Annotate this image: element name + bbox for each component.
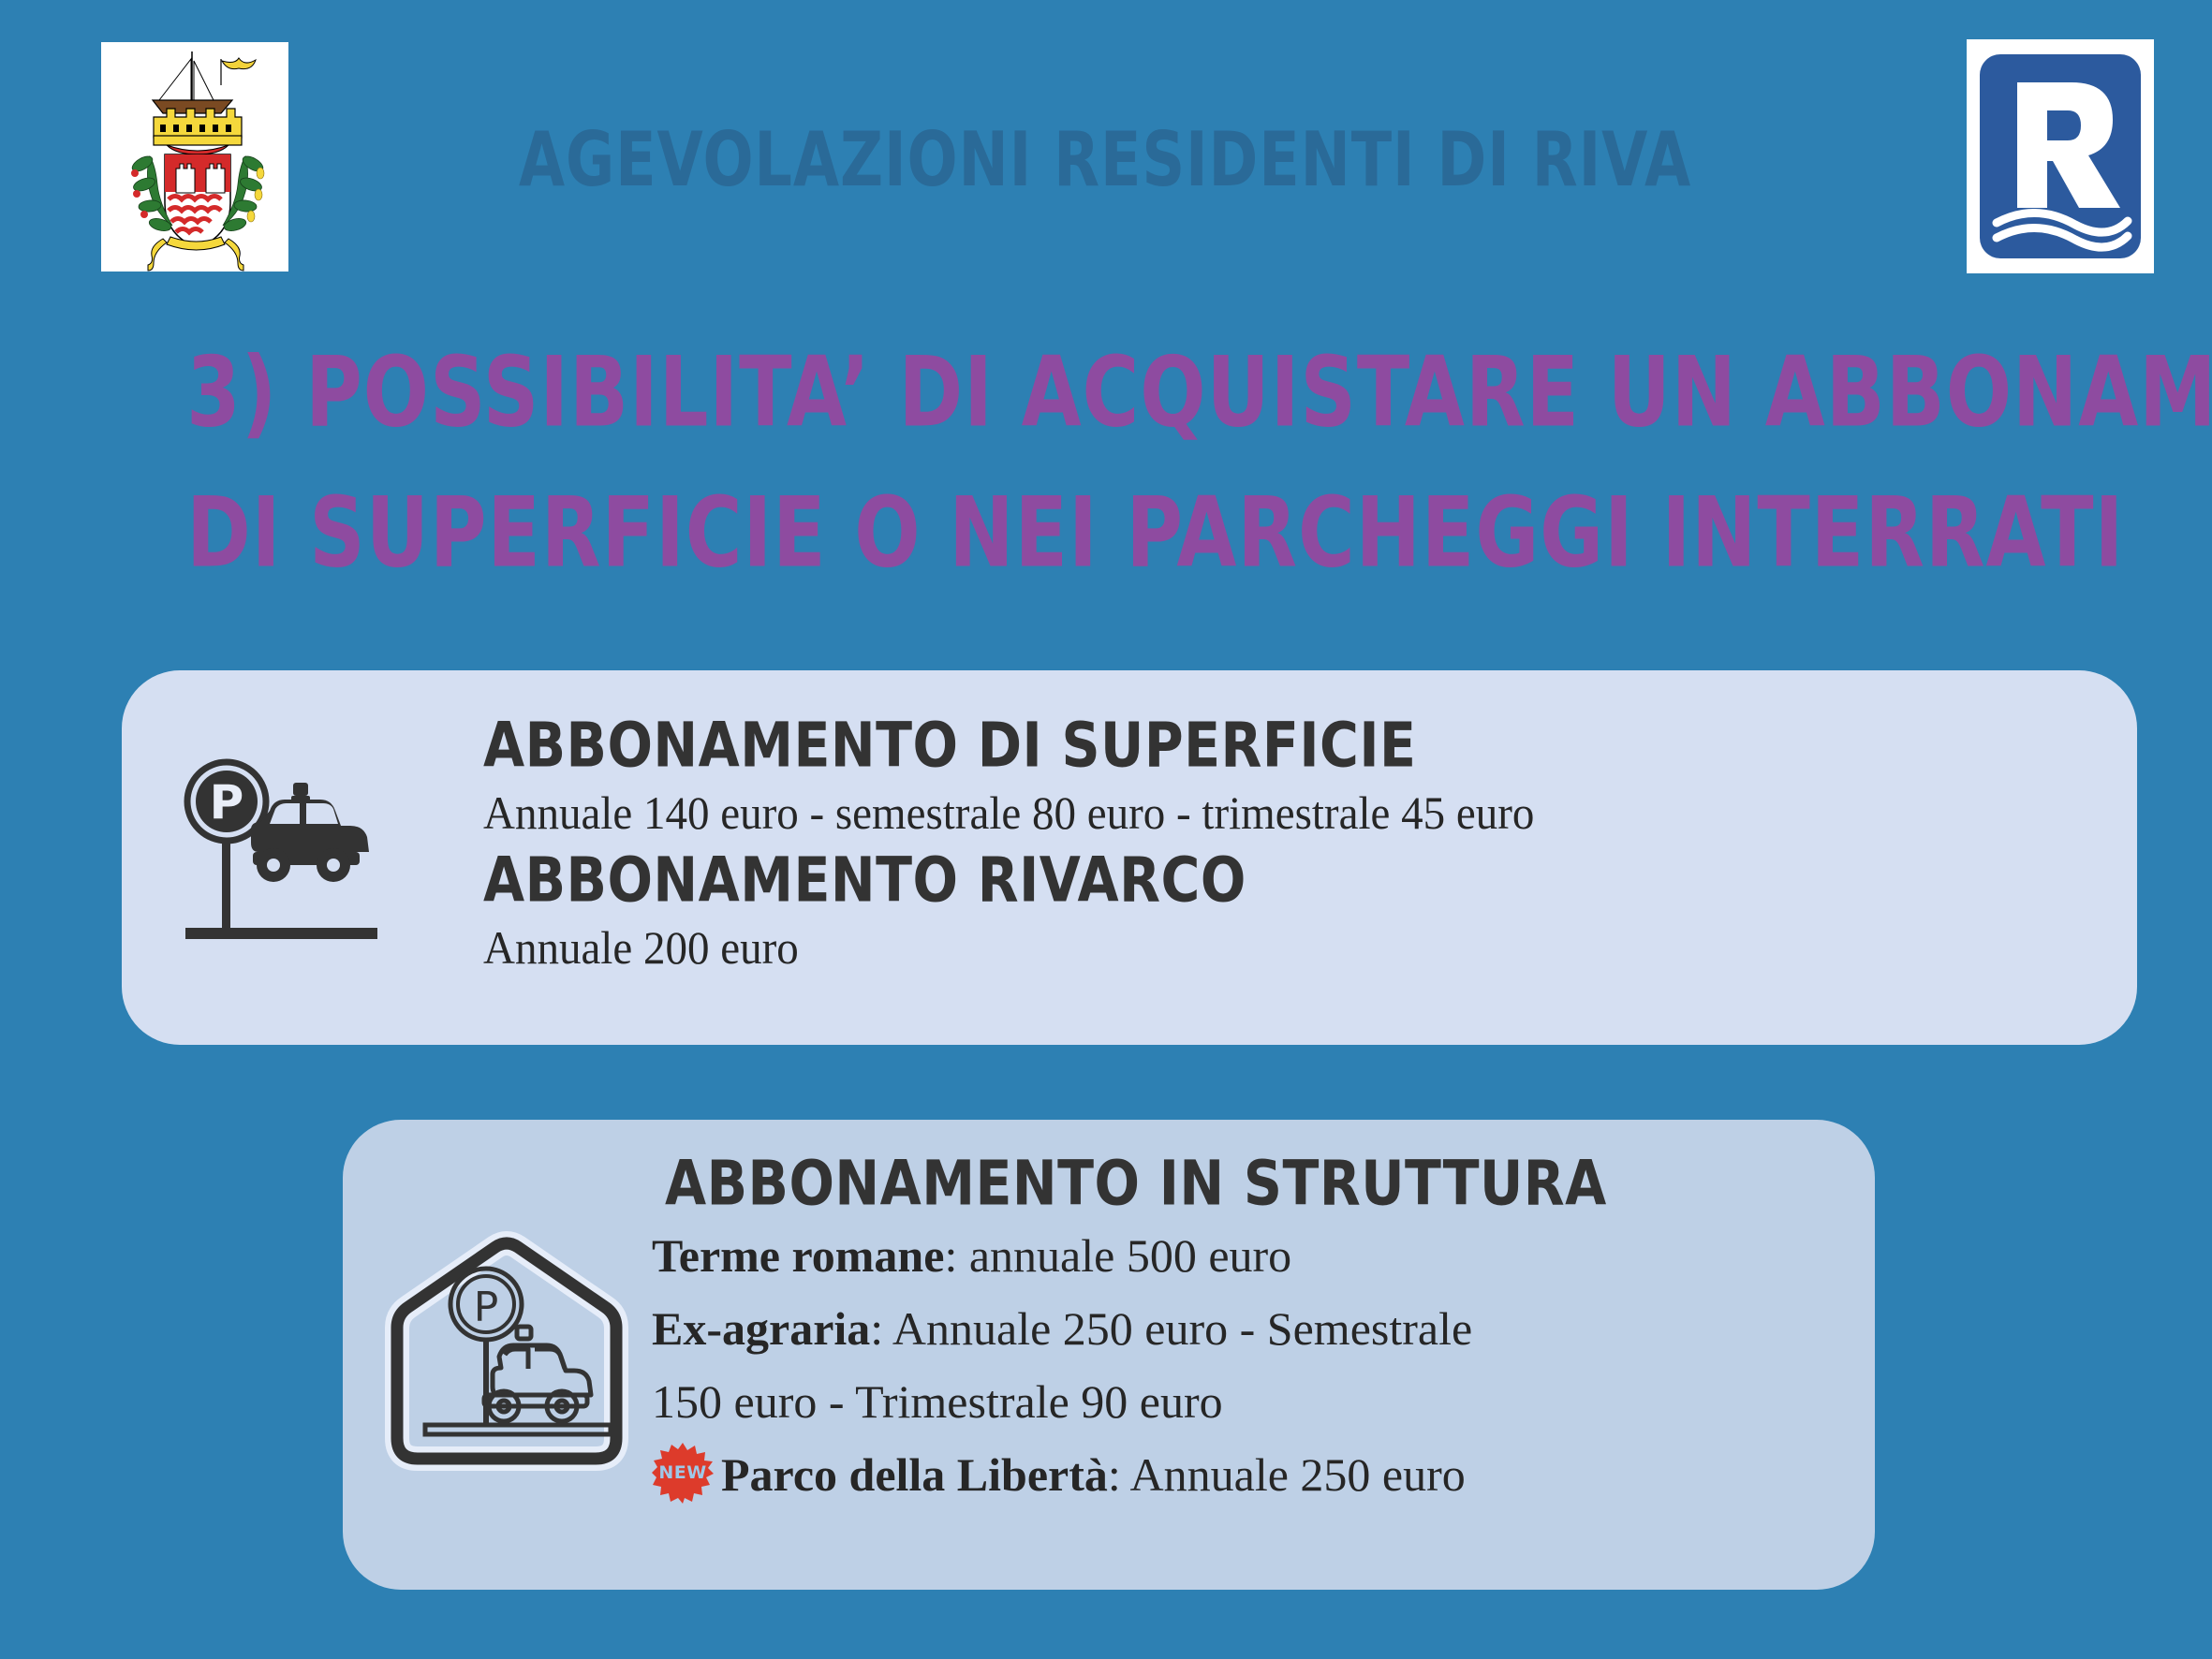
struttura-row-value: 150 euro - Trimestrale 90 euro [652,1375,1223,1428]
new-badge: NEW [652,1442,714,1504]
parking-sign-car-icon: P [169,756,403,958]
coat-of-arms-icon [101,42,288,272]
struttura-row-name: Ex-agraria [652,1302,870,1355]
header-bar: AGEVOLAZIONI RESIDENTI DI RIVA [0,0,2212,300]
struttura-row-terme-romane: Terme romane: annuale 500 euro [652,1219,1847,1292]
new-badge-label: NEW [652,1442,714,1504]
struttura-row-value: Annuale 250 euro - Semestrale [892,1302,1472,1355]
garage-parking-icon: P [371,1168,642,1496]
struttura-row-sep: : [870,1302,892,1355]
struttura-row-sep: : [1108,1448,1130,1501]
card-superficie-body: ABBONAMENTO DI SUPERFICIE Annuale 140 eu… [483,710,2100,979]
poster-canvas: AGEVOLAZIONI RESIDENTI DI RIVA 3) POSSIB… [0,0,2212,1659]
struttura-row-value: Annuale 250 euro [1130,1448,1466,1501]
struttura-row-name: Parco della Libertà [721,1448,1108,1501]
riva-r-logo-icon [1967,39,2154,273]
heading-abbonamento-rivarco: ABBONAMENTO RIVARCO [483,842,1970,918]
svg-text:P: P [210,775,244,829]
struttura-row-sep: : [944,1229,968,1282]
svg-text:P: P [474,1284,499,1331]
heading-abbonamento-superficie: ABBONAMENTO DI SUPERFICIE [483,707,1970,783]
card-abbonamento-superficie: P ABBONAMENTO DI SUPERFICIE [122,670,2137,1045]
card-struttura-body: ABBONAMENTO IN STRUTTURA Terme romane: a… [652,1148,1847,1511]
detail-abbonamento-superficie: Annuale 140 euro - semestrale 80 euro - … [483,781,2002,844]
main-title: 3) POSSIBILITA’ DI ACQUISTARE UN ABBONAM… [84,323,2128,604]
struttura-row-ex-agraria: Ex-agraria: Annuale 250 euro - Semestral… [652,1292,1847,1365]
main-title-line-2: DI SUPERFICIE O NEI PARCHEGGI INTERRATI [186,455,2026,612]
main-title-line-1: 3) POSSIBILITA’ DI ACQUISTARE UN ABBONAM… [186,315,2026,472]
struttura-row-value: annuale 500 euro [969,1229,1291,1282]
card-abbonamento-struttura: P ABBONAMENTO IN STRUTTURA [343,1120,1875,1590]
crest-frame [101,42,288,272]
struttura-row-name: Terme romane [652,1229,944,1282]
struttura-row-ex-agraria-cont: 150 euro - Trimestrale 90 euro [652,1365,1847,1438]
detail-abbonamento-rivarco: Annuale 200 euro [483,916,2002,979]
page-title: AGEVOLAZIONI RESIDENTI DI RIVA [477,117,1733,204]
r-logo-frame [1967,39,2154,273]
struttura-row-parco-della-liberta: NEW Parco della Libertà: Annuale 250 eur… [652,1438,1847,1511]
heading-abbonamento-struttura: ABBONAMENTO IN STRUTTURA [665,1145,1752,1221]
